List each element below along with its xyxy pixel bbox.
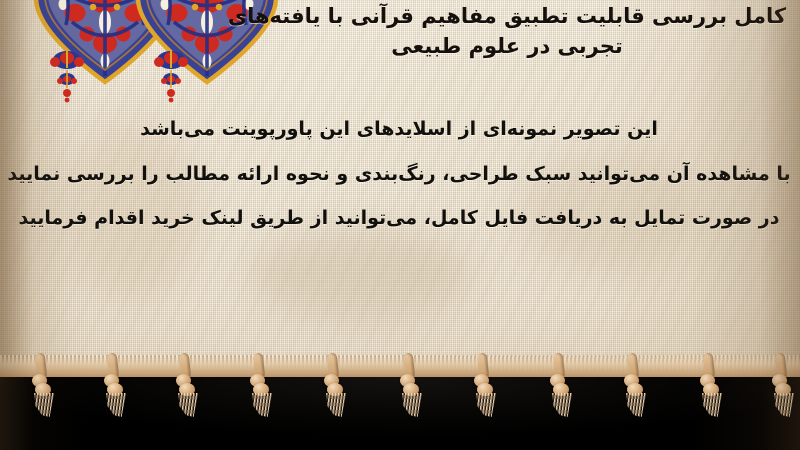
fringe-tassel	[246, 365, 272, 413]
fringe-tassel	[546, 365, 572, 413]
fringe-tassel	[470, 365, 496, 413]
slide-title-line-2: تجربی در علوم طبیعی	[222, 32, 792, 62]
fringe-tassel	[172, 365, 198, 413]
fringe-tassel	[396, 365, 422, 413]
body-line-1: این تصویر نمونه‌ای از اسلایدهای این پاور…	[4, 107, 794, 152]
fringe-tassel	[28, 365, 54, 413]
fringe-tassel	[100, 365, 126, 413]
fringe-tassel	[620, 365, 646, 413]
fringe-tassel	[768, 365, 794, 413]
slide-title-line-1: کامل بررسی قابلیت تطبیق مفاهیم قرآنی با …	[222, 2, 792, 32]
slide-title: کامل بررسی قابلیت تطبیق مفاهیم قرآنی با …	[222, 2, 792, 62]
carpet-fringe-band	[0, 355, 800, 450]
fringe-tassel	[320, 365, 346, 413]
body-line-3: در صورت تمایل به دریافت فایل کامل، می‌تو…	[4, 196, 794, 241]
body-line-2: با مشاهده آن می‌توانید سبک طراحی، رنگ‌بن…	[4, 152, 794, 197]
slide-body-text: این تصویر نمونه‌ای از اسلایدهای این پاور…	[4, 107, 794, 241]
slide-canvas: کامل بررسی قابلیت تطبیق مفاهیم قرآنی با …	[0, 0, 800, 450]
fringe-tassel	[696, 365, 722, 413]
